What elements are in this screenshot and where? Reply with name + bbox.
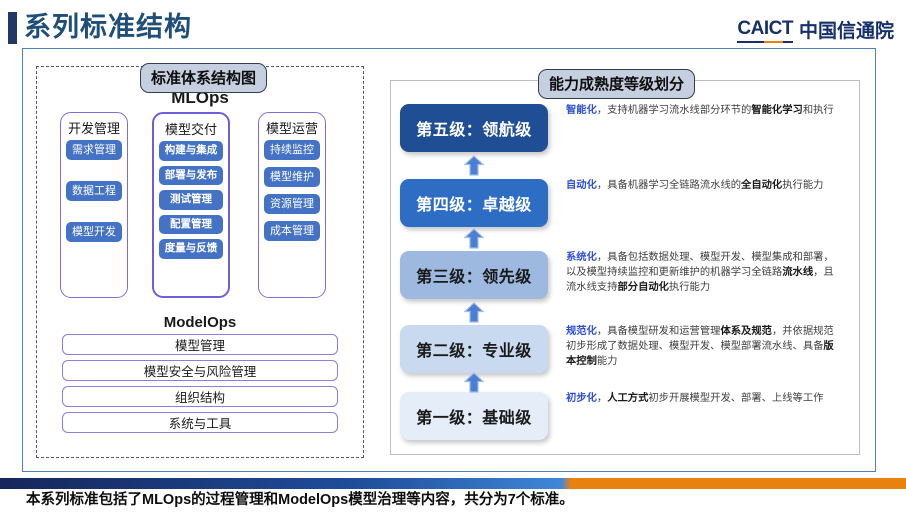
left-panel-badge: 标准体系结构图 [140,63,267,93]
modelops-row: 模型管理 [62,334,338,355]
modelops-title: ModelOps [36,314,364,331]
mlops-item: 持续监控 [264,140,320,160]
maturity-keyword: 智能化 [566,105,597,116]
maturity-level-box[interactable]: 第三级：领先级 [400,251,548,299]
mlops-column-operations: 模型运营 持续监控 模型维护 资源管理 成本管理 [258,112,326,298]
maturity-text: 执行能力 [669,282,710,293]
column-header: 模型交付 [165,119,217,138]
maturity-emphasis: 体系及规范 [720,326,771,337]
logo-chinese-text: 中国信通院 [799,16,894,43]
maturity-emphasis: 部分自动化 [617,282,668,293]
maturity-text: ，具备机器学习全链路流水线的 [597,180,741,191]
maturity-level-description: 智能化，支持机器学习流水线部分环节的智能化学习和执行 [566,104,840,119]
maturity-level-box[interactable]: 第五级：领航级 [400,104,548,152]
mlops-column-delivery: 模型交付 构建与集成 部署与发布 测试管理 配置管理 度量与反馈 [152,112,230,298]
mlops-item: 资源管理 [264,194,320,214]
maturity-text: ，具备模型研发和运营管理 [597,326,721,337]
modelops-row: 组织结构 [62,386,338,407]
up-arrow-icon [463,228,485,250]
maturity-level-box[interactable]: 第一级：基础级 [400,392,548,440]
up-arrow-icon [463,302,485,324]
maturity-text: ，支持机器学习流水线部分环节的 [597,105,751,116]
maturity-emphasis: 流水线 [782,267,813,278]
maturity-text: 能力 [597,356,618,367]
maturity-level-box[interactable]: 第四级：卓越级 [400,179,548,227]
modelops-row: 模型安全与风险管理 [62,360,338,381]
title-accent-bar [8,12,17,44]
maturity-level-row: 第四级：卓越级自动化，具备机器学习全链路流水线的全自动化执行能力 [400,179,850,227]
maturity-emphasis: 智能化学习 [751,105,802,116]
footer-summary-text: 本系列标准包括了MLOps的过程管理和ModelOps模型治理等内容，共分为7个… [26,490,886,510]
mlops-item: 测试管理 [159,190,223,210]
maturity-emphasis: 人工方式 [607,393,648,404]
mlops-item: 度量与反馈 [159,239,223,259]
maturity-keyword: 自动化 [566,180,597,191]
modelops-row: 系统与工具 [62,412,338,433]
maturity-level-row: 第一级：基础级初步化，人工方式初步开展模型开发、部署、上线等工作 [400,392,850,440]
maturity-panel-badge: 能力成熟度等级划分 [538,69,695,99]
maturity-level-description: 自动化，具备机器学习全链路流水线的全自动化执行能力 [566,179,840,194]
mlops-item: 配置管理 [159,215,223,235]
mlops-item: 构建与集成 [159,141,223,161]
maturity-level-description: 初步化，人工方式初步开展模型开发、部署、上线等工作 [566,392,840,407]
maturity-emphasis: 全自动化 [741,180,782,191]
maturity-text: 初步开展模型开发、部署、上线等工作 [648,393,823,404]
caict-logo: CAICT 中国信通院 [737,16,894,43]
mlops-item: 需求管理 [66,140,122,160]
maturity-keyword: 系统化 [566,252,597,263]
maturity-level-row: 第三级：领先级系统化，具备包括数据处理、模型开发、模型集成和部署，以及模型持续监… [400,251,850,299]
maturity-level-row: 第二级：专业级规范化，具备模型研发和运营管理体系及规范，并依据规范初步形成了数据… [400,325,850,373]
column-header: 开发管理 [68,118,120,137]
maturity-text: ， [597,393,607,404]
column-header: 模型运营 [266,118,318,137]
up-arrow-icon [463,372,485,394]
maturity-text: 执行能力 [782,180,823,191]
mlops-item: 数据工程 [66,181,122,201]
maturity-text: 和执行 [803,105,834,116]
maturity-keyword: 初步化 [566,393,597,404]
slide-root: 系列标准结构 CAICT 中国信通院 标准体系结构图 MLOps 开发管理 需求… [0,0,906,512]
mlops-item: 模型维护 [264,167,320,187]
maturity-level-box[interactable]: 第二级：专业级 [400,325,548,373]
mlops-item: 部署与发布 [159,166,223,186]
page-title: 系列标准结构 [24,10,192,44]
maturity-level-description: 规范化，具备模型研发和运营管理体系及规范，并依据规范初步形成了数据处理、模型开发… [566,325,840,370]
maturity-level-description: 系统化，具备包括数据处理、模型开发、模型集成和部署，以及模型持续监控和更新维护的… [566,251,840,296]
maturity-level-row: 第五级：领航级智能化，支持机器学习流水线部分环节的智能化学习和执行 [400,104,850,152]
up-arrow-icon [463,155,485,177]
mlops-item: 成本管理 [264,221,320,241]
mlops-item: 模型开发 [66,222,122,242]
footer-gradient-bar [0,478,906,489]
logo-mark-text: CAICT [737,18,793,43]
maturity-keyword: 规范化 [566,326,597,337]
mlops-column-dev: 开发管理 需求管理 数据工程 模型开发 [60,112,128,298]
